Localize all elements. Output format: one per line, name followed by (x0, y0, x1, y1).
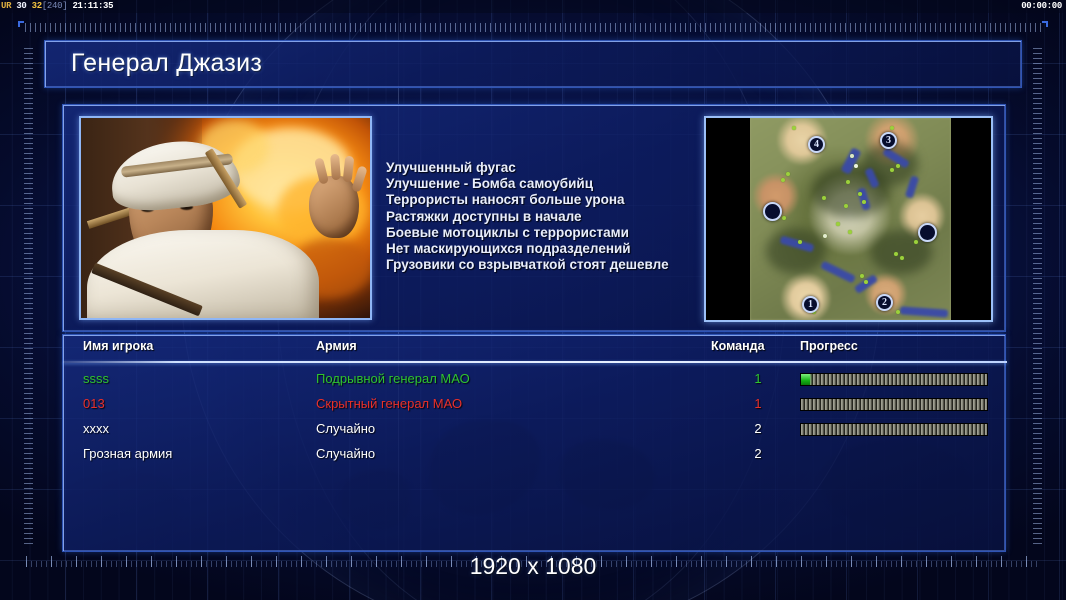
description-line: Растяжки доступны в начале (386, 209, 736, 225)
player-army: Подрывной генерал МАО (316, 371, 470, 386)
minimap-tree (850, 154, 854, 158)
description-line: Грузовики со взрывчаткой стоят дешевле (386, 257, 736, 273)
ruler-right (1033, 48, 1042, 548)
minimap-tree (848, 230, 852, 234)
player-team: 2 (747, 446, 769, 461)
column-header-name: Имя игрока (83, 339, 153, 353)
player-row[interactable]: 013Скрытный генерал МАО1 (63, 392, 1007, 417)
minimap-spawn-point-empty (918, 223, 937, 242)
player-name: xxxx (83, 421, 109, 436)
status-value-2: 32 (32, 1, 42, 11)
minimap-tree (782, 216, 786, 220)
minimap-tree (894, 252, 898, 256)
minimap-spawn-point-4: 4 (808, 136, 825, 153)
title-panel: Генерал Джазиз (44, 40, 1022, 88)
minimap-tree (896, 164, 900, 168)
player-team: 1 (747, 396, 769, 411)
player-row[interactable]: ssssПодрывной генерал МАО1 (63, 367, 1007, 392)
game-lobby-screen: UR 30 32[240] 21:11:35 00:00:00 Генерал … (0, 0, 1066, 600)
player-progress-bar (800, 373, 988, 386)
minimap-spawn-point-1: 1 (802, 296, 819, 313)
player-progress-bar (800, 423, 988, 436)
minimap-preview: 4312 (704, 116, 993, 322)
player-list-header-divider (63, 361, 1007, 363)
resolution-label: 1920 x 1080 (0, 553, 1066, 580)
player-army: Случайно (316, 446, 375, 461)
description-line: Улучшение - Бомба самоубийц (386, 176, 736, 192)
player-army: Скрытный генерал МАО (316, 396, 462, 411)
ruler-left (24, 48, 33, 548)
status-left-group: UR 30 32[240] 21:11:35 (1, 0, 113, 13)
minimap-tree (890, 168, 894, 172)
minimap-spawn-point-empty (763, 202, 782, 221)
column-header-army: Армия (316, 339, 357, 353)
status-right-clock: 00:00:00 (1021, 0, 1062, 13)
minimap-terrain (750, 118, 951, 320)
player-list-panel: Имя игрокаАрмияКомандаПрогресс ssssПодры… (62, 334, 1006, 552)
frame-line-left (18, 21, 20, 27)
player-army: Случайно (316, 421, 375, 436)
column-header-progress: Прогресс (800, 339, 858, 353)
description-line: Нет маскирующихся подразделений (386, 241, 736, 257)
minimap-tree (792, 126, 796, 130)
progress-bar-stripes (801, 424, 987, 435)
progress-bar-fill (801, 374, 810, 385)
top-status-bar: UR 30 32[240] 21:11:35 00:00:00 (0, 0, 1066, 13)
minimap-tree (822, 196, 826, 200)
description-line: Боевые мотоциклы с террористами (386, 225, 736, 241)
portrait-finger-2 (330, 154, 341, 181)
page-title: Генерал Джазиз (71, 49, 262, 78)
player-list-header: Имя игрокаАрмияКомандаПрогресс (63, 339, 1007, 361)
player-name: Грозная армия (83, 446, 172, 461)
minimap-tree (862, 200, 866, 204)
status-clock: 21:11:35 (72, 1, 113, 11)
minimap-tree (896, 310, 900, 314)
minimap-tree (798, 240, 802, 244)
progress-bar-stripes (801, 399, 987, 410)
description-line: Террористы наносят больше урона (386, 192, 736, 208)
minimap-tree (860, 274, 864, 278)
status-label: UR (1, 1, 11, 11)
player-name: ssss (83, 371, 109, 386)
frame-line-right (1046, 21, 1048, 27)
progress-bar-stripes (801, 374, 987, 385)
minimap-image: 4312 (750, 118, 951, 320)
general-description-list: Улучшенный фугасУлучшение - Бомба самоуб… (386, 160, 736, 273)
portrait-artwork (81, 118, 370, 318)
status-bracket-value: [240] (42, 1, 68, 11)
minimap-tree (900, 256, 904, 260)
minimap-tree (823, 234, 827, 238)
status-value-1: 30 (16, 1, 26, 11)
minimap-tree (854, 164, 858, 168)
player-row[interactable]: Грозная армияСлучайно2 (63, 442, 1007, 467)
player-team: 1 (747, 371, 769, 386)
minimap-spawn-point-3: 3 (880, 132, 897, 149)
column-header-team: Команда (711, 339, 765, 353)
general-portrait (79, 116, 372, 320)
minimap-tree (844, 204, 848, 208)
minimap-tree (846, 180, 850, 184)
player-team: 2 (747, 421, 769, 436)
player-row[interactable]: xxxxСлучайно2 (63, 417, 1007, 442)
minimap-tree (864, 280, 868, 284)
minimap-tree (914, 240, 918, 244)
minimap-tree (786, 172, 790, 176)
minimap-tree (890, 126, 894, 130)
general-info-panel: Улучшенный фугасУлучшение - Бомба самоуб… (62, 104, 1006, 332)
player-name: 013 (83, 396, 105, 411)
player-progress-bar (800, 398, 988, 411)
minimap-tree (836, 222, 840, 226)
minimap-tree (781, 178, 785, 182)
minimap-spawn-point-2: 2 (876, 294, 893, 311)
minimap-tree (858, 192, 862, 196)
description-line: Улучшенный фугас (386, 160, 736, 176)
minimap-shadow-3 (766, 228, 826, 274)
ruler-top (25, 23, 1041, 32)
